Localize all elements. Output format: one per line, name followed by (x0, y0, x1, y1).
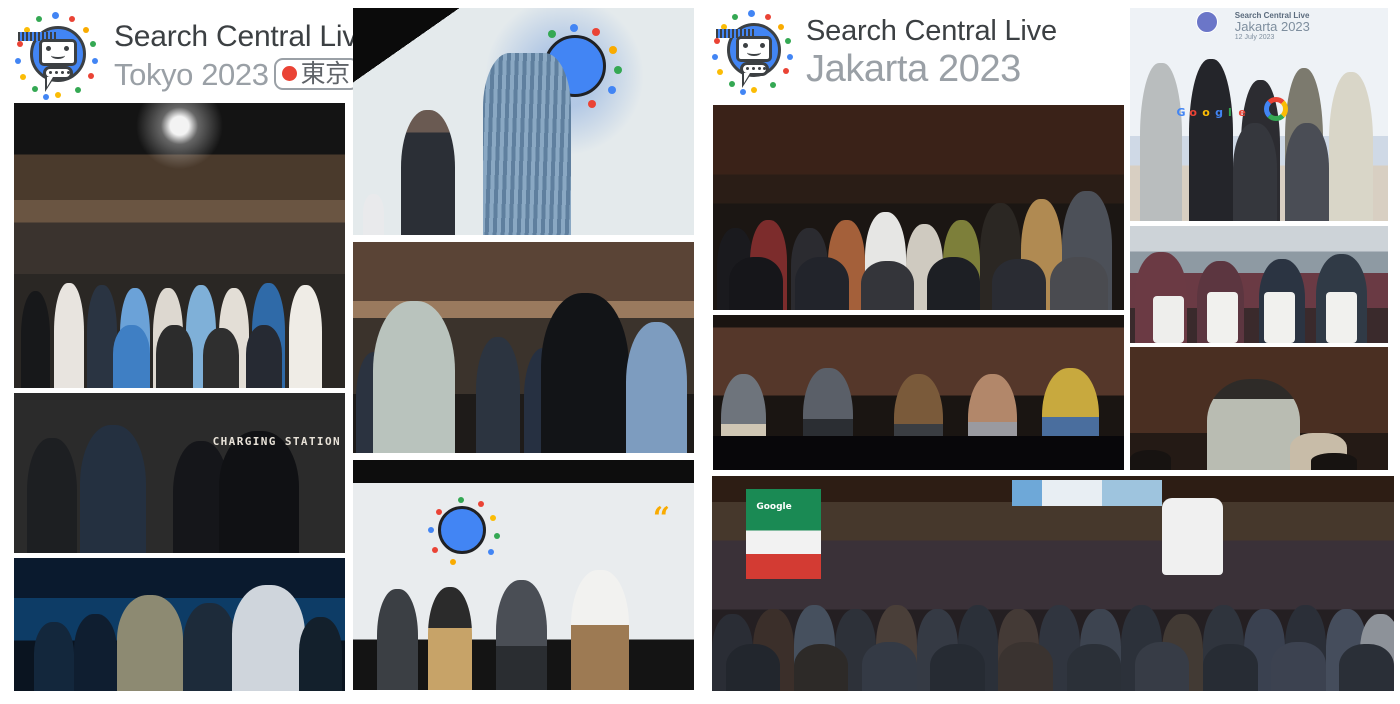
collage-page: Search Central Live Tokyo 2023 東京 (0, 0, 1400, 704)
photo-people-overlay (1130, 347, 1388, 470)
jakarta-logo-line-1: Search Central Live (806, 17, 1057, 46)
photo-people-overlay (14, 393, 345, 553)
jakarta-logo-lockup: Search Central Live Jakarta 2023 (710, 8, 1057, 96)
jakarta-audience-cheering-photo (713, 105, 1124, 310)
photo-people-overlay (713, 315, 1124, 470)
photo-people-overlay (14, 558, 345, 691)
photo-people-overlay (713, 105, 1124, 310)
photo-people-overlay (14, 103, 345, 388)
tokyo-stage-speaker-yukata-photo (353, 8, 694, 235)
photo-people-overlay (1130, 8, 1388, 221)
tokyo-attendees-heart-hands-photo (353, 242, 694, 453)
tokyo-badge-exchange-photo: CHARGING STATION (14, 393, 345, 553)
photo-people-overlay (353, 242, 694, 453)
tokyo-japan-badge: 東京 (274, 58, 359, 90)
tokyo-audience-group-photo (14, 103, 345, 388)
tokyo-panel-discussion-photo: “ (353, 460, 694, 690)
search-central-mascot-icon (710, 8, 798, 96)
jakarta-photo-wall-group-photo: Search Central Live Jakarta 2023 12 July… (1130, 8, 1388, 221)
jakarta-panel-discussion-photo (713, 315, 1124, 470)
tokyo-badge-label: 東京 (301, 61, 350, 86)
tokyo-logo-line-2: Tokyo 2023 (114, 59, 269, 90)
jakarta-logo-line-2: Jakarta 2023 (806, 50, 1057, 88)
tokyo-logo-lockup: Search Central Live Tokyo 2023 東京 (12, 10, 374, 102)
jakarta-tote-bag-attendees-photo (1130, 226, 1388, 343)
photo-people-overlay (712, 476, 1394, 691)
jakarta-full-group-photo: Google (712, 476, 1394, 691)
jakarta-attendee-question-photo (1130, 347, 1388, 470)
tokyo-networking-drinks-photo (14, 558, 345, 691)
charging-station-sign: CHARGING STATION (213, 435, 341, 448)
photo-people-overlay (353, 460, 694, 690)
photo-people-overlay (1130, 226, 1388, 343)
photo-people-overlay (353, 8, 694, 235)
japan-flag-icon (282, 66, 297, 81)
tokyo-logo-line-1: Search Central Live (114, 22, 374, 52)
search-central-mascot-icon (12, 10, 104, 102)
